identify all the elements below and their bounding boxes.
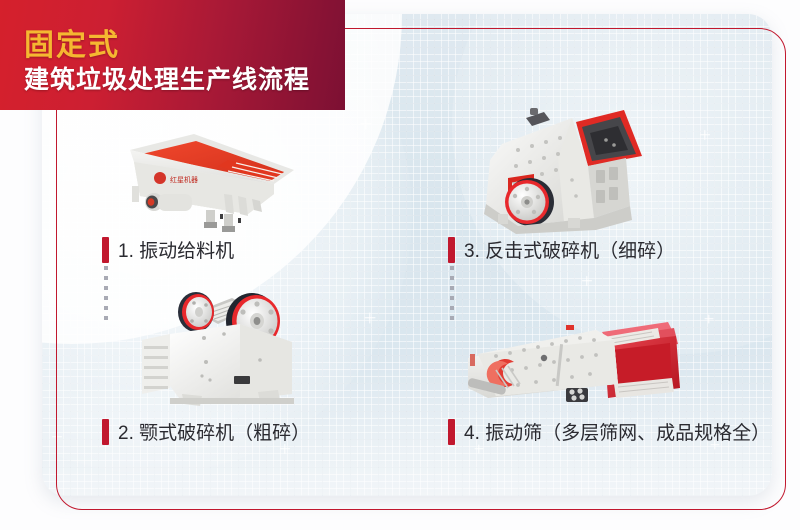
banner-title-top: 固定式 (24, 20, 120, 64)
flowchart-poster: 红星机器 1. 振动给料机 (0, 0, 800, 530)
step-2-label: 2. 颚式破碎机（粗碎） (118, 418, 310, 445)
step-3-image (472, 100, 658, 236)
step-1-image: 红星机器 (98, 122, 298, 234)
step-4-label: 4. 振动筛（多层筛网、成品规格全） (464, 418, 770, 445)
step-1-label: 1. 振动给料机 (118, 236, 234, 263)
step-marker-bar (102, 237, 109, 263)
step-marker-bar (102, 419, 109, 445)
step-4-label-row: 4. 振动筛（多层筛网、成品规格全） (448, 418, 770, 445)
svg-text:红星机器: 红星机器 (170, 175, 198, 184)
step-marker-bar (448, 419, 455, 445)
step-1-label-row: 1. 振动给料机 (102, 236, 234, 263)
step-3-connector-dots (450, 266, 454, 324)
step-3-label: 3. 反击式破碎机（细碎） (464, 236, 675, 263)
step-marker-bar (448, 237, 455, 263)
banner-title-main: 建筑垃圾处理生产线流程 (24, 60, 310, 96)
step-4-image (462, 292, 694, 412)
step-3-label-row: 3. 反击式破碎机（细碎） (448, 236, 675, 263)
step-2-image (140, 276, 330, 408)
step-2-label-row: 2. 颚式破碎机（粗碎） (102, 418, 310, 445)
step-1-connector-dots (104, 266, 108, 324)
title-banner: 固定式 建筑垃圾处理生产线流程 (0, 0, 345, 110)
